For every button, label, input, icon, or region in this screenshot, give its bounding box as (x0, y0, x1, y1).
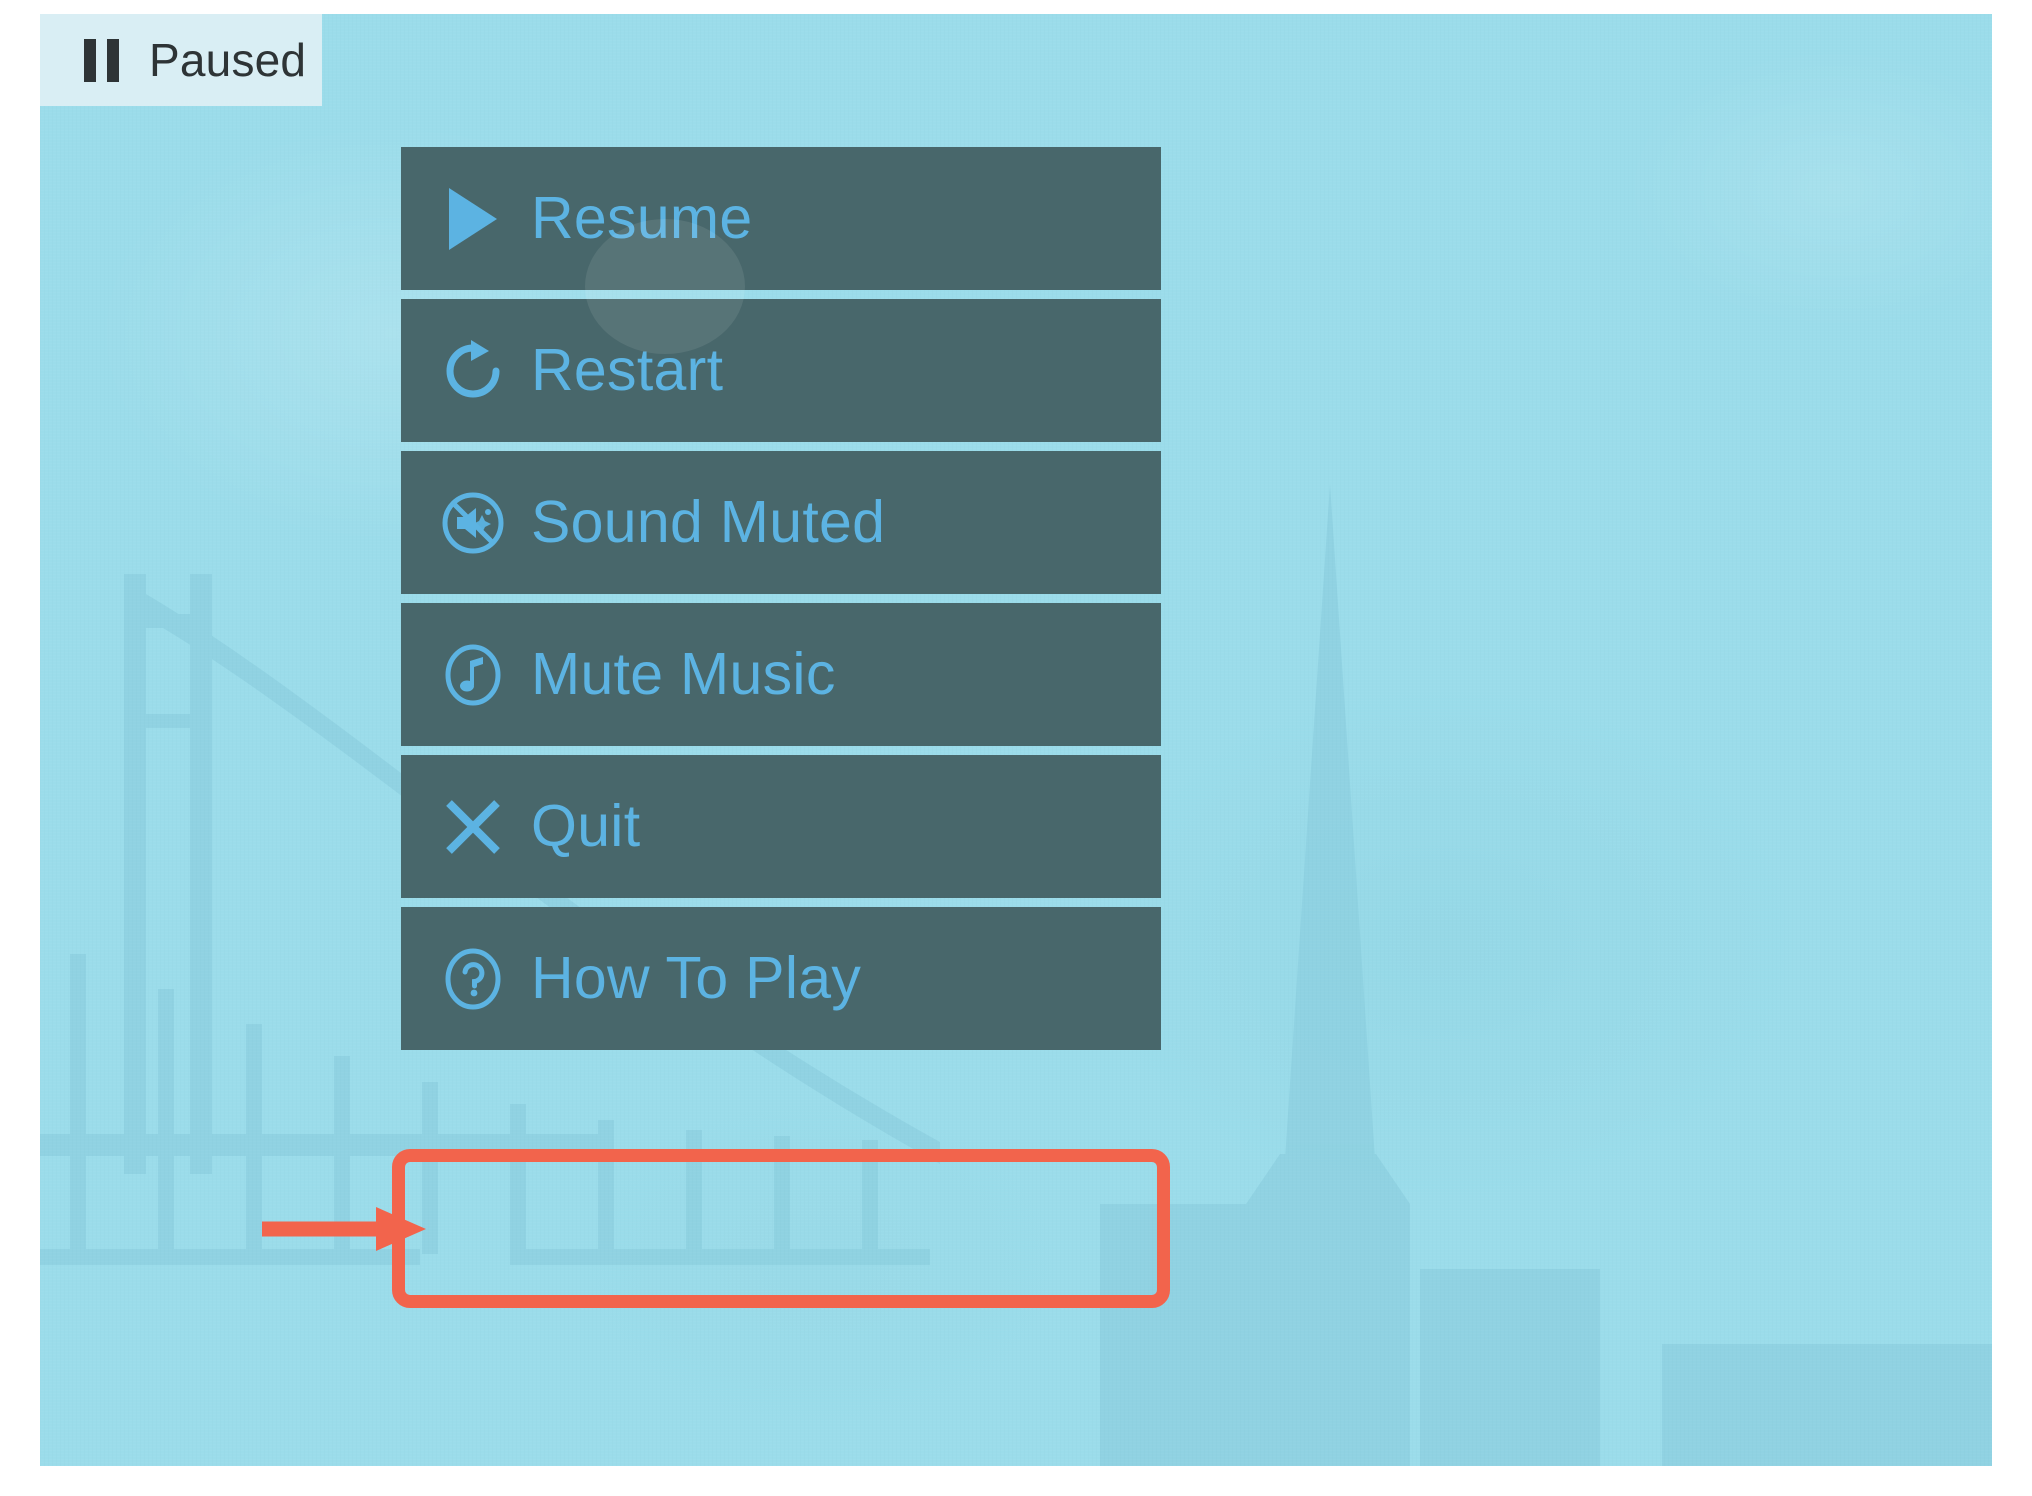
menu-item-resume[interactable]: Resume (401, 147, 1161, 290)
play-icon (440, 186, 506, 252)
restart-icon (440, 338, 506, 404)
question-circle-icon (440, 946, 506, 1012)
menu-item-label: Mute Music (531, 645, 836, 704)
menu-item-label: Sound Muted (531, 493, 885, 552)
menu-item-label: How To Play (531, 949, 861, 1008)
game-canvas: Paused Resume (40, 14, 1992, 1466)
page-root: Paused Resume (0, 0, 2032, 1496)
status-badge: Paused (40, 14, 322, 106)
pause-menu: Resume Restart (401, 147, 1161, 1050)
pause-icon (84, 39, 119, 82)
paused-label: Paused (149, 37, 306, 83)
close-x-icon (440, 794, 506, 860)
music-note-icon (440, 642, 506, 708)
menu-item-sound[interactable]: Sound Muted (401, 451, 1161, 594)
menu-item-restart[interactable]: Restart (401, 299, 1161, 442)
annotation-arrow-icon (258, 1199, 433, 1259)
menu-item-label: Restart (531, 341, 723, 400)
menu-item-how-to-play[interactable]: How To Play (401, 907, 1161, 1050)
menu-item-label: Quit (531, 797, 640, 856)
menu-item-quit[interactable]: Quit (401, 755, 1161, 898)
annotation-highlight-box (392, 1149, 1170, 1308)
sound-muted-icon (440, 490, 506, 556)
menu-item-label: Resume (531, 189, 753, 248)
menu-item-music[interactable]: Mute Music (401, 603, 1161, 746)
